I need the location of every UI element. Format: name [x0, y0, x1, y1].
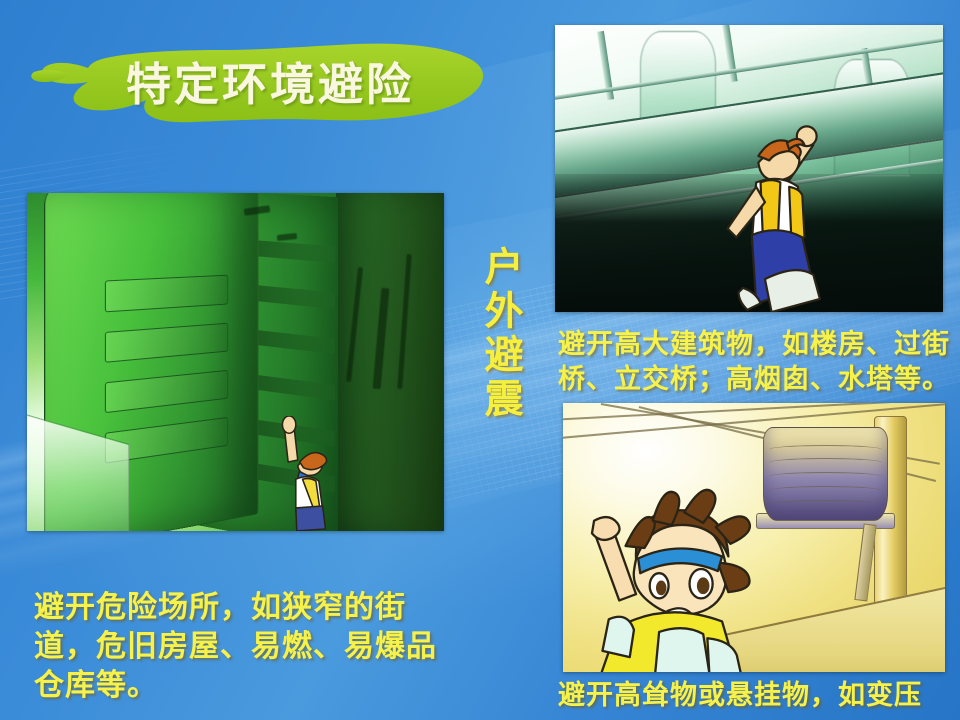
caption-overpass: 避开高大建筑物，如楼房、过街桥、立交桥；高烟囱、水塔等。 [558, 327, 950, 397]
vertical-section-label: 户外避震 [474, 246, 520, 422]
picture-collapsing-buildings [27, 193, 444, 531]
boy-running-figure [710, 94, 842, 312]
boy-headband-figure [571, 462, 785, 672]
boy-looking-up-figure [269, 416, 340, 531]
picture-pole-transformer [563, 403, 945, 672]
slide-title-group: 特定环境避险 [26, 28, 496, 132]
caption-transformer: 避开高耸物或悬挂物，如变压 [558, 678, 958, 713]
picture-overpass-bridge [555, 25, 943, 312]
page-title: 特定环境避险 [26, 28, 496, 132]
caption-buildings: 避开危险场所，如狭窄的街道，危旧房屋、易燃、易爆品仓库等。 [34, 588, 444, 705]
presentation-slide: 特定环境避险 [0, 0, 960, 720]
